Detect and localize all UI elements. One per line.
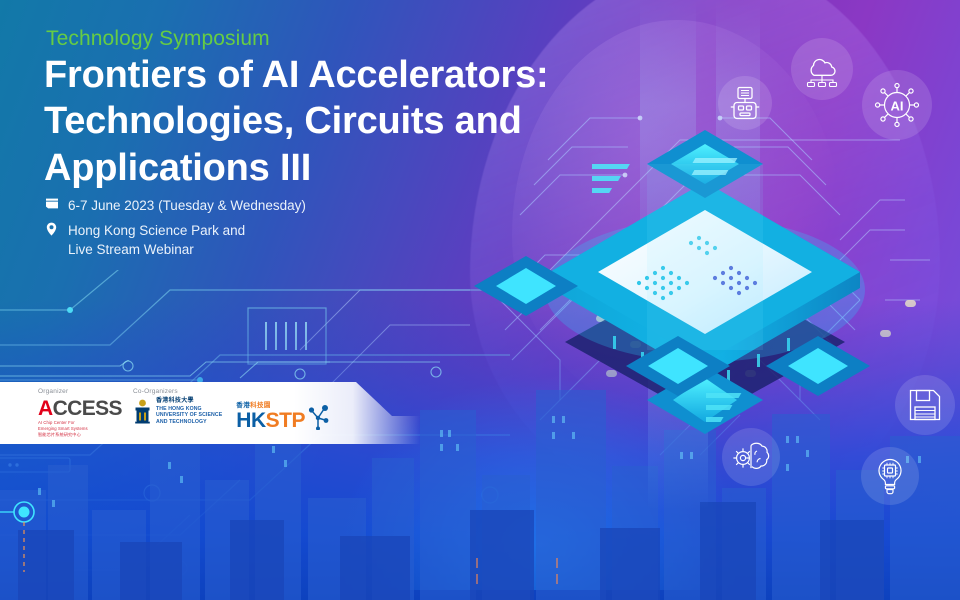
page-title: Frontiers of AI Accelerators: Technologi…	[44, 52, 564, 191]
bottom-left-node	[0, 490, 120, 600]
event-date-row: 6-7 June 2023 (Tuesday & Wednesday)	[44, 196, 306, 216]
access-logo: ACCESS AI Chip Center For Emerging Smart…	[38, 398, 122, 438]
side-chip-bottom	[620, 330, 740, 410]
organizer-group: Organizer ACCESS AI Chip Center For Emer…	[38, 388, 122, 438]
event-date: 6-7 June 2023 (Tuesday & Wednesday)	[68, 196, 306, 216]
lightbulb-chip-icon	[861, 447, 919, 505]
hkust-chinese-name: 香港科技大學	[156, 398, 222, 406]
access-tagline-3: 智能芯片系统研究中心	[38, 432, 122, 438]
hkust-english-line-3: AND TECHNOLOGY	[156, 419, 222, 426]
hkust-text: 香港科技大學 THE HONG KONG UNIVERSITY OF SCIEN…	[156, 398, 222, 425]
light-beam	[648, 300, 708, 510]
title-line-1: Frontiers of AI Accelerators:	[44, 52, 564, 98]
brain-gear-icon	[722, 428, 780, 486]
event-details: 6-7 June 2023 (Tuesday & Wednesday) Hong…	[44, 196, 306, 265]
molecule-icon	[307, 404, 329, 430]
organizer-caption: Organizer	[38, 388, 122, 395]
light-beam	[640, 0, 696, 300]
calendar-icon	[44, 196, 59, 210]
location-pin-icon	[44, 221, 59, 236]
robot-icon	[718, 76, 772, 130]
title-line-2: Technologies, Circuits and	[44, 98, 564, 144]
light-beam	[716, 0, 760, 300]
coorganizer-logos: 香港科技大學 THE HONG KONG UNIVERSITY OF SCIEN…	[133, 398, 329, 430]
floppy-disk-icon	[895, 375, 955, 435]
logobar-circuit-ornament	[0, 360, 460, 382]
ai-network-icon: AI	[862, 70, 932, 140]
venue-line-1: Hong Kong Science Park and	[68, 223, 245, 238]
cyan-dash-accents	[592, 150, 772, 240]
hkust-logo: 香港科技大學 THE HONG KONG UNIVERSITY OF SCIEN…	[133, 398, 222, 425]
hkstp-hk: HK	[236, 409, 265, 432]
venue-line-2: Live Stream Webinar	[68, 242, 194, 257]
kicker-text: Technology Symposium	[46, 27, 270, 51]
access-letter-a: A	[38, 397, 53, 420]
access-tagline: AI Chip Center For Emerging Smart System…	[38, 420, 122, 438]
cloud-computing-icon	[791, 38, 853, 100]
hkstp-stp: STP	[266, 409, 305, 432]
svg-text:AI: AI	[891, 99, 904, 114]
hkust-seal-icon	[133, 399, 152, 424]
access-letters-rest: CCESS	[53, 397, 122, 420]
event-venue: Hong Kong Science Park and Live Stream W…	[68, 221, 245, 260]
side-chip-right	[760, 330, 880, 410]
event-venue-row: Hong Kong Science Park and Live Stream W…	[44, 221, 306, 260]
coorganizer-group: Co-Organizers 香港科技大學 THE HONG KONG UNIVE…	[133, 388, 329, 430]
hkust-english-line-2: UNIVERSITY OF SCIENCE	[156, 412, 222, 419]
title-line-3: Applications III	[44, 145, 564, 191]
event-banner: AI Technology Sym	[0, 0, 960, 600]
hkstp-wordmark: HKSTP	[236, 411, 305, 431]
sponsor-logo-bar: Organizer ACCESS AI Chip Center For Emer…	[0, 382, 420, 444]
coorganizer-caption: Co-Organizers	[133, 388, 329, 395]
access-wordmark: ACCESS	[38, 398, 122, 419]
hkstp-logo: 香港科技園 HKSTP	[236, 398, 329, 430]
